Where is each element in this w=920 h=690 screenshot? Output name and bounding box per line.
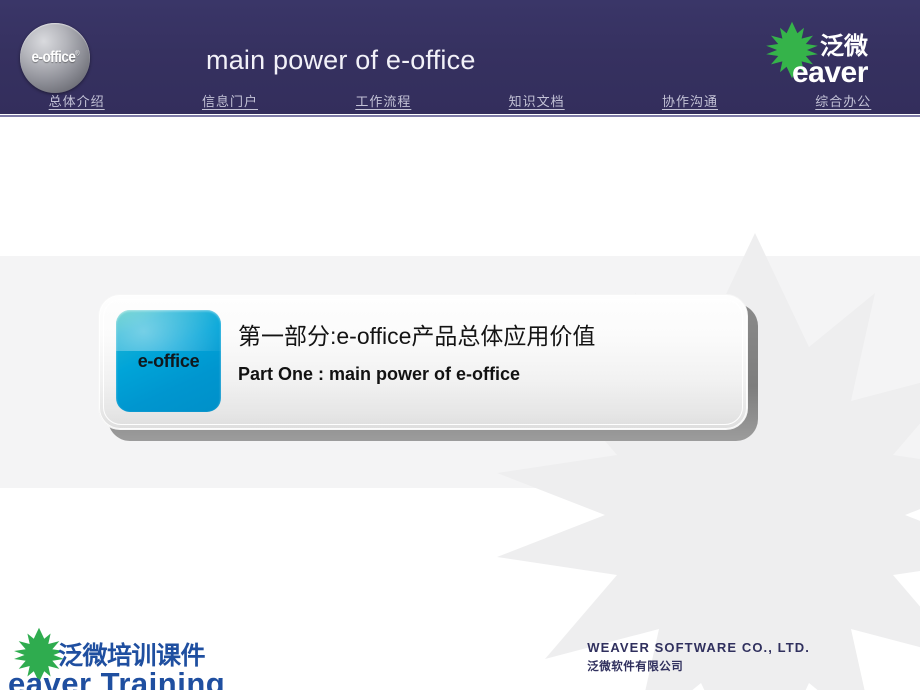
eoffice-badge-label: e-office® — [31, 49, 79, 67]
nav-item-portal[interactable]: 信息门户 — [153, 93, 306, 113]
weaver-asterisk-watermark-icon — [455, 215, 920, 690]
training-label-en: eaver Training — [8, 666, 225, 690]
nav-item-office[interactable]: 综合办公 — [767, 93, 920, 113]
company-credit: WEAVER SOFTWARE CO., LTD. 泛微软件有限公司 — [587, 640, 810, 674]
eoffice-logo-badge: e-office® — [20, 23, 90, 93]
card-title-en: Part One : main power of e-office — [238, 360, 728, 388]
company-name-cn: 泛微软件有限公司 — [587, 658, 810, 674]
nav-item-collaboration[interactable]: 协作沟通 — [613, 93, 766, 113]
eoffice-tile-label: e-office — [138, 351, 200, 372]
nav-item-overview[interactable]: 总体介绍 — [0, 93, 153, 113]
header-divider-highlight — [0, 117, 920, 118]
nav-item-knowledge-docs[interactable]: 知识文档 — [460, 93, 613, 113]
weaver-brand-en: eaver — [792, 56, 868, 90]
slide: e-office® main power of e-office 泛微 eave… — [0, 0, 920, 690]
section-title-card: e-office 第一部分:e-office产品总体应用价值 Part One … — [98, 294, 758, 441]
card-text-block: 第一部分:e-office产品总体应用价值 Part One : main po… — [238, 320, 728, 388]
weaver-training-logo: 泛微培训课件 eaver Training — [2, 622, 232, 690]
eoffice-tile-icon: e-office — [116, 310, 221, 412]
company-name-en: WEAVER SOFTWARE CO., LTD. — [587, 640, 810, 655]
nav-item-workflow[interactable]: 工作流程 — [307, 93, 460, 113]
section-nav[interactable]: 总体介绍 信息门户 工作流程 知识文档 协作沟通 综合办公 — [0, 93, 920, 113]
card-title-cn: 第一部分:e-office产品总体应用价值 — [238, 320, 728, 352]
weaver-brand-logo: 泛微 eaver — [762, 20, 912, 90]
page-title: main power of e-office — [206, 45, 476, 76]
